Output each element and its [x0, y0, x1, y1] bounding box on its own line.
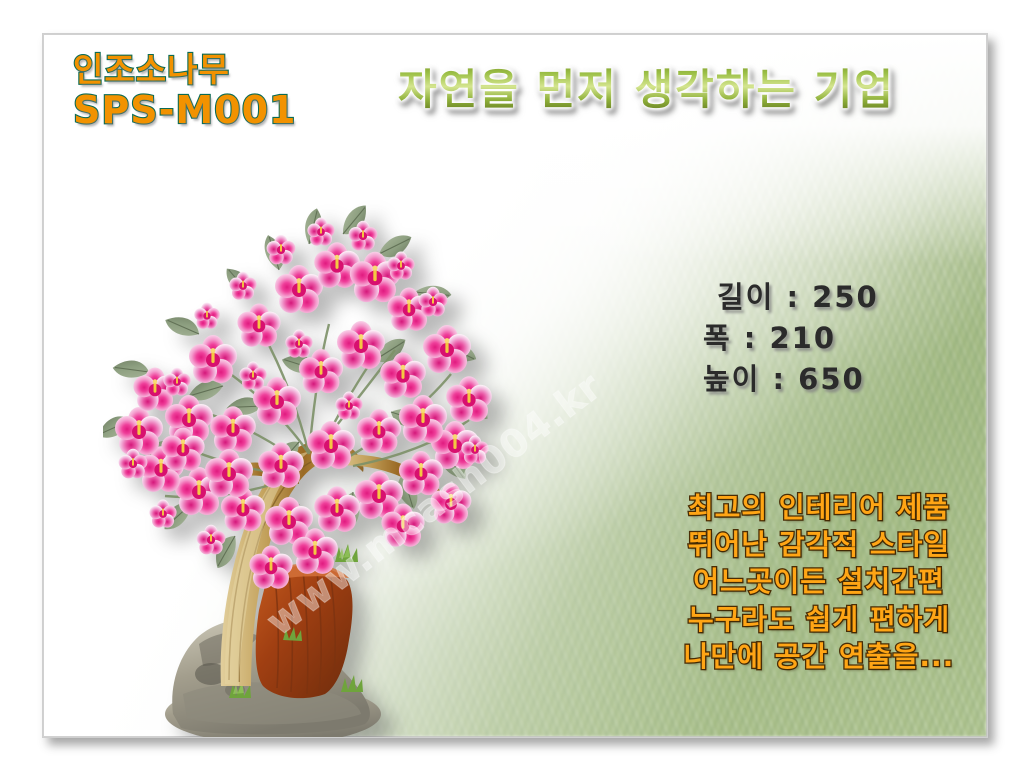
ad-image-canvas: www.mcash004.kr — [0, 0, 1024, 768]
copy-line-3: 어느곳이든 설치간편 — [639, 563, 988, 600]
product-flowers — [115, 218, 492, 589]
product-code-block: 인조소나무 SPS-M001 — [73, 53, 297, 129]
spec-width: 폭 : 210 — [703, 318, 879, 359]
copy-line-4: 누구라도 쉽게 편하게 — [639, 601, 988, 638]
copy-line-5: 나만에 공간 연출을... — [639, 638, 988, 675]
product-name-label: 인조소나무 — [73, 53, 297, 87]
spec-length: 길이 : 250 — [717, 277, 879, 318]
marketing-copy-block: 최고의 인테리어 제품 뛰어난 감각적 스타일 어느곳이든 설치간편 누구라도 … — [639, 489, 988, 675]
product-model-label: SPS-M001 — [73, 91, 297, 130]
spec-block: 길이 : 250 폭 : 210 높이 : 650 — [703, 277, 879, 401]
page-headline: 자연을 먼저 생각하는 기업 — [398, 56, 895, 117]
copy-line-2: 뛰어난 감각적 스타일 — [639, 526, 988, 563]
ad-panel: www.mcash004.kr — [42, 33, 988, 738]
copy-line-1: 최고의 인테리어 제품 — [639, 489, 988, 526]
product-bonsai-image — [103, 174, 523, 738]
spec-height: 높이 : 650 — [703, 359, 879, 400]
